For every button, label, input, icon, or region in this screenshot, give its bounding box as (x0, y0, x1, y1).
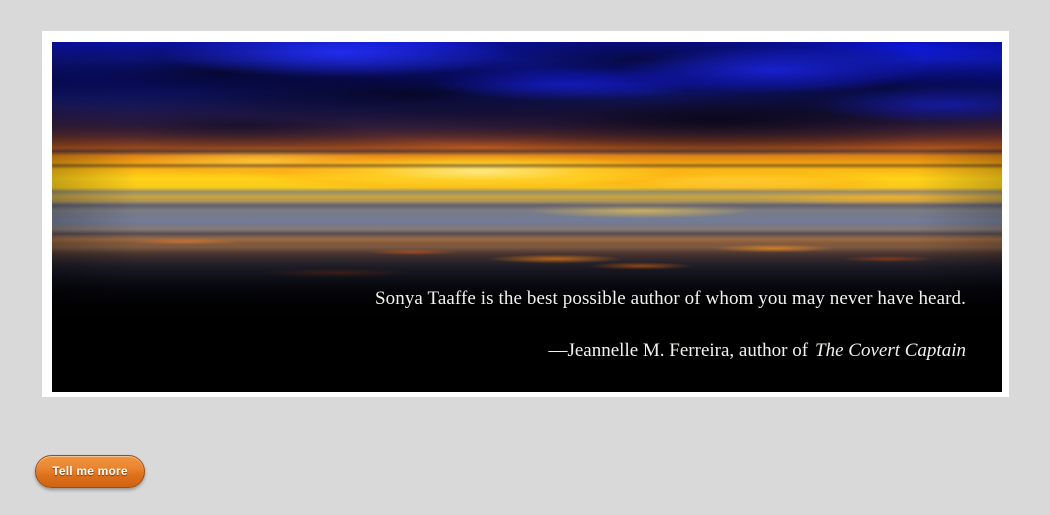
quote-text: Sonya Taaffe is the best possible author… (52, 286, 966, 312)
quote-attribution-work-title: The Covert Captain (815, 340, 966, 361)
tell-me-more-button[interactable]: Tell me more (35, 455, 145, 488)
quote-attribution: —Jeannelle M. Ferreira, author ofThe Cov… (52, 338, 966, 364)
quote-attribution-author: —Jeannelle M. Ferreira, author of (548, 340, 808, 361)
quote-block: Sonya Taaffe is the best possible author… (52, 286, 966, 364)
hero-card: Sonya Taaffe is the best possible author… (42, 31, 1009, 397)
sunset-sky-photograph: Sonya Taaffe is the best possible author… (52, 42, 1002, 392)
